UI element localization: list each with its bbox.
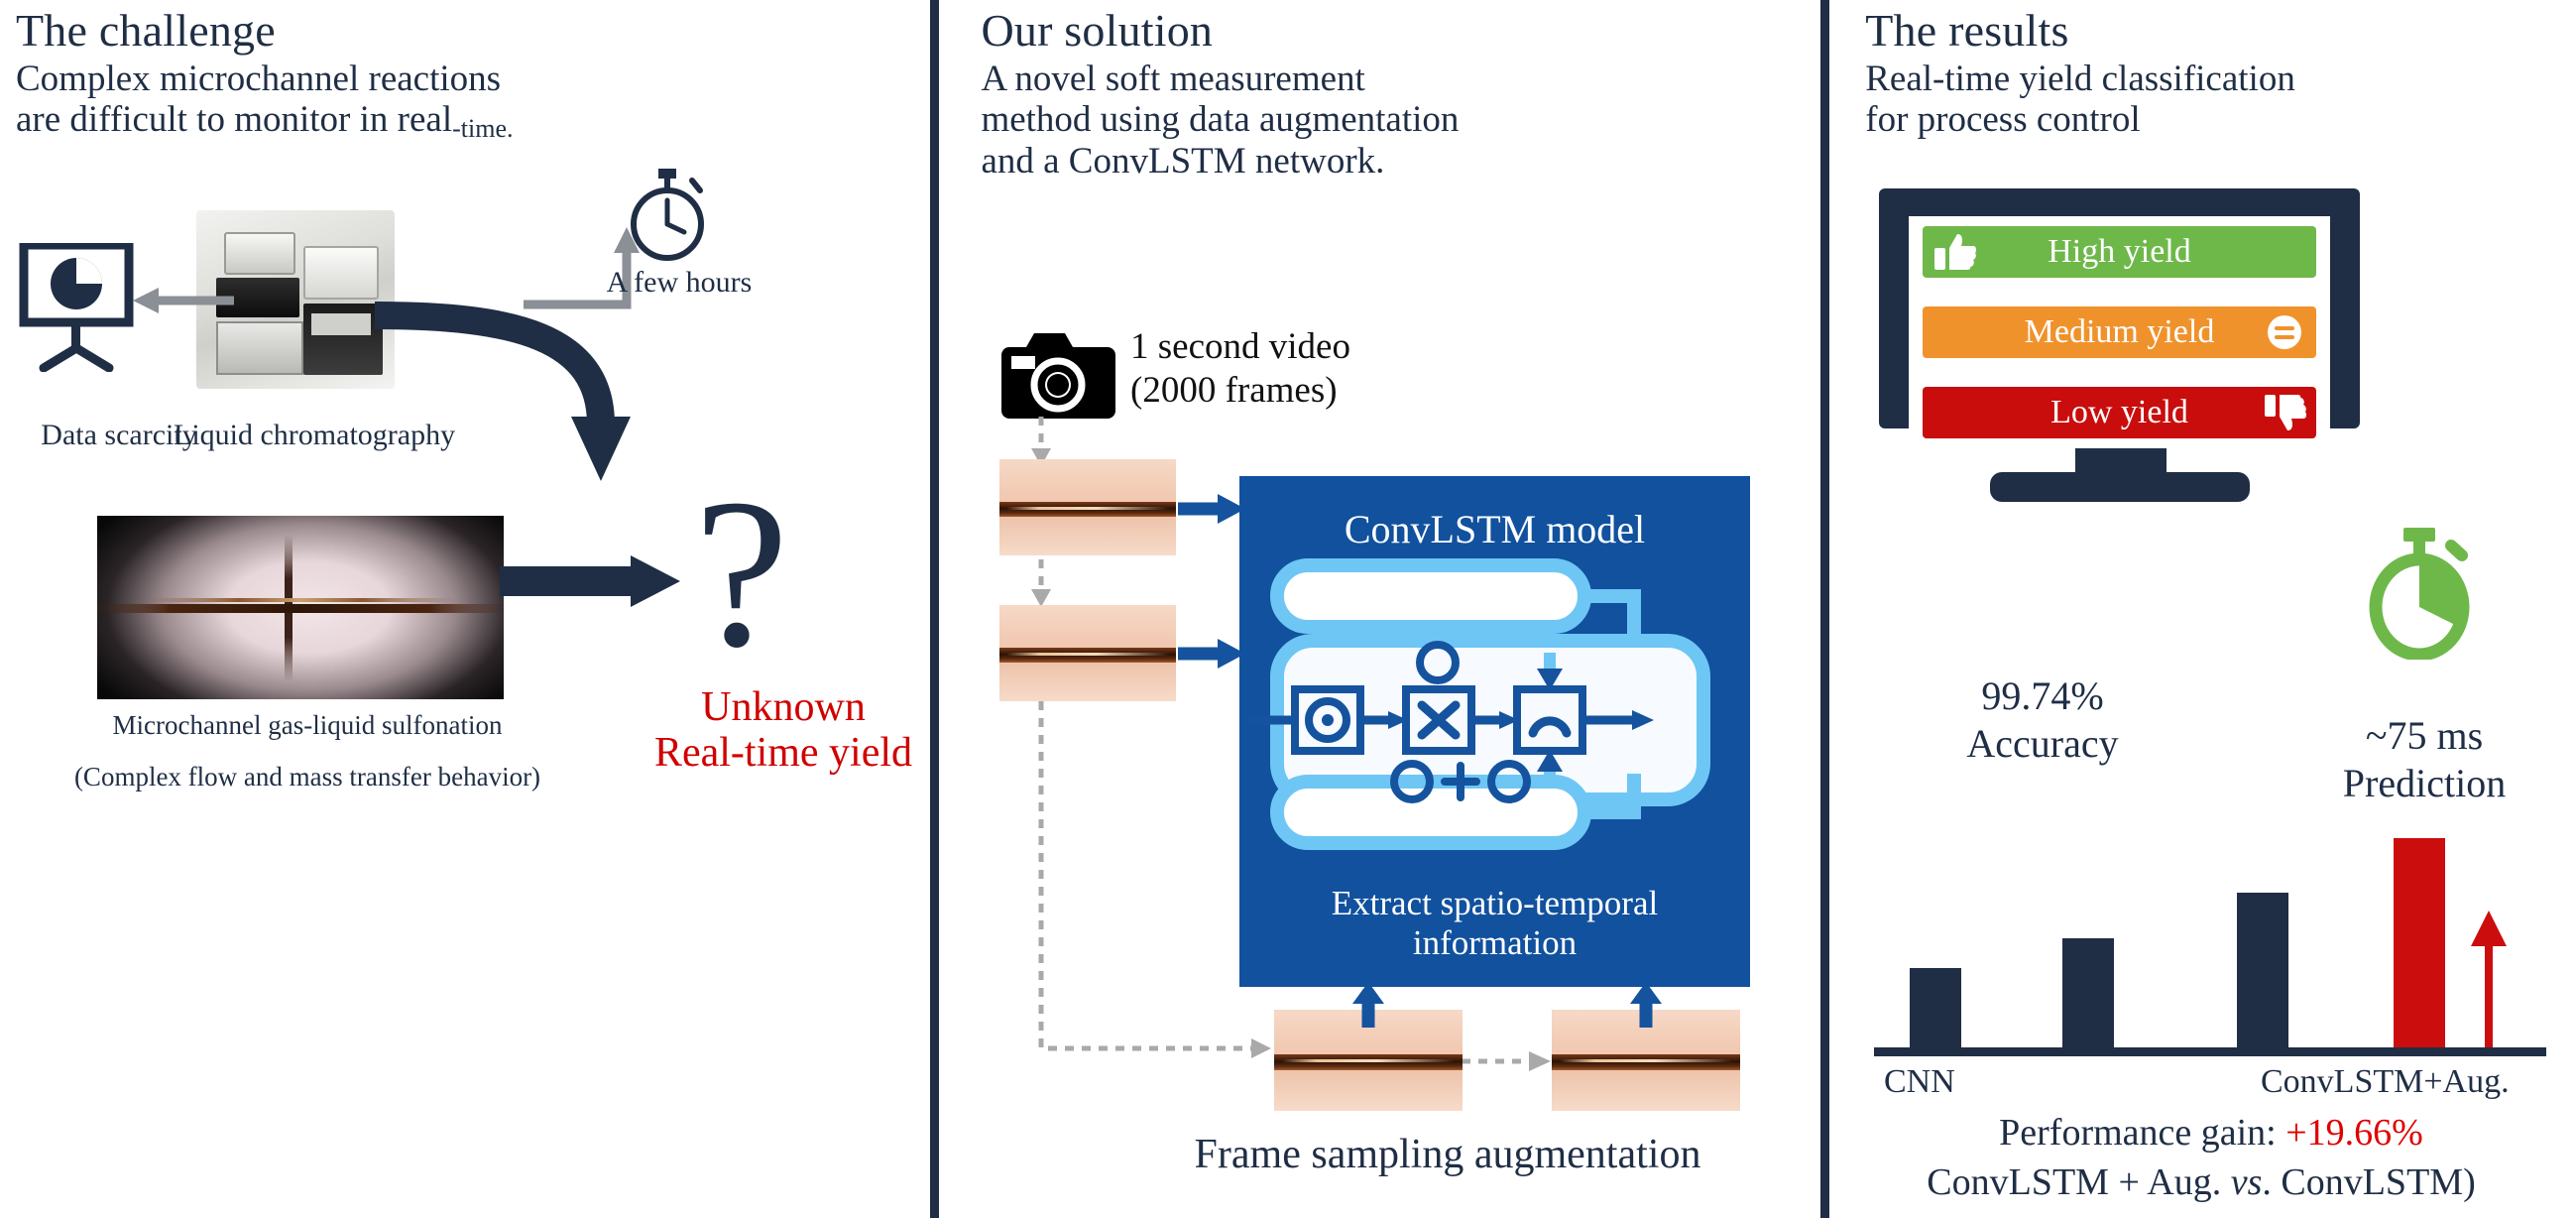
- bar-series-3: [2237, 893, 2288, 1047]
- prediction-label: Prediction: [2300, 760, 2548, 807]
- yield-label-high: High yield: [2048, 233, 2190, 271]
- label-a-few-hours: A few hours: [585, 266, 773, 301]
- yield-row-medium[interactable]: Medium yield: [1923, 306, 2316, 358]
- frame-up-arrow-1-icon: [1341, 982, 1396, 1030]
- chart-baseline: [1874, 1047, 2546, 1056]
- yield-label-medium: Medium yield: [2025, 313, 2215, 351]
- video-frame-thumbnail-1: [999, 459, 1176, 555]
- question-mark-symbol: ?: [694, 466, 788, 679]
- chart-label-cnn: CNN: [1884, 1063, 1955, 1101]
- performance-bar-chart: [1864, 838, 2558, 1056]
- camera-icon: [1001, 327, 1115, 419]
- convlstm-model-box: ConvLSTM model: [1239, 476, 1750, 987]
- graphical-abstract: The challenge Complex microchannel react…: [0, 0, 2576, 1218]
- yield-row-high[interactable]: High yield: [1923, 226, 2316, 278]
- right-sub-line-2: for process control: [1865, 99, 2295, 140]
- performance-note-head: ConvLSTM + Aug.: [1927, 1161, 2230, 1203]
- stopwatch-green-icon: [2360, 526, 2479, 660]
- yield-row-low[interactable]: Low yield: [1923, 387, 2316, 438]
- left-sub-line-2: are difficult to monitor in real-time.: [16, 99, 513, 143]
- performance-note-vs: vs: [2231, 1161, 2263, 1203]
- camera-caption-line-1: 1 second video: [1130, 325, 1350, 369]
- middle-sub-line-2: method using data augmentation: [981, 99, 1459, 140]
- video-frame-thumbnail-2: [999, 605, 1176, 701]
- label-microchannel-sulfonation: Microchannel gas-liquid sulfonation: [30, 710, 585, 741]
- accuracy-stat: 99.74% Accuracy: [1914, 672, 2171, 768]
- monitor-illustration: High yield Medium yield Low yield: [1879, 188, 2360, 526]
- left-heading: The challenge: [16, 8, 513, 54]
- middle-text-block: Our solution A novel soft measurement me…: [981, 8, 1459, 182]
- unknown-line-2: Real-time yield: [635, 730, 932, 776]
- curved-arrow-down-icon: [367, 298, 684, 496]
- thumbs-up-icon: [1932, 232, 1976, 272]
- middle-subtitle: A novel soft measurement method using da…: [981, 59, 1459, 182]
- middle-sub-line-3: and a ConvLSTM network.: [981, 141, 1459, 182]
- convlstm-caption-line-2: information: [1239, 923, 1750, 963]
- right-text-block: The results Real-time yield classificati…: [1865, 8, 2295, 141]
- convlstm-model-caption: Extract spatio-temporal information: [1239, 884, 1750, 964]
- camera-caption: 1 second video (2000 frames): [1130, 325, 1350, 412]
- right-heading: The results: [1865, 8, 2295, 54]
- monitor-screen: High yield Medium yield Low yield: [1909, 216, 2330, 448]
- performance-gain-line: Performance gain: +19.66%: [1864, 1111, 2558, 1155]
- frame-to-model-arrow-2-icon: [1176, 629, 1249, 678]
- bar-convlstm-aug: [2394, 838, 2445, 1047]
- prediction-value: ~75 ms: [2300, 712, 2548, 760]
- dashed-arrow-between-frames-icon: [1460, 1039, 1559, 1083]
- left-sub-line-2-tail: -time.: [452, 114, 513, 143]
- convlstm-caption-line-1: Extract spatio-temporal: [1239, 884, 1750, 923]
- panel-divider-2: [1820, 0, 1829, 1218]
- right-sub-line-1: Real-time yield classification: [1865, 59, 2295, 99]
- stopwatch-clock-icon: [623, 167, 712, 266]
- lstm-cell-diagram: [1239, 546, 1750, 873]
- left-sub-line-1: Complex microchannel reactions: [16, 59, 513, 99]
- frame-to-model-arrow-1-icon: [1176, 484, 1249, 534]
- left-subtitle: Complex microchannel reactions are diffi…: [16, 59, 513, 144]
- arrow-to-chart-icon: [129, 283, 238, 322]
- accuracy-value: 99.74%: [1914, 672, 2171, 720]
- microchannel-microscopy-photo: [97, 516, 504, 699]
- yield-label-low: Low yield: [2050, 394, 2188, 431]
- left-sub-line-2-main: are difficult to monitor in real: [16, 99, 452, 140]
- camera-caption-line-2: (2000 frames): [1130, 369, 1350, 413]
- label-microchannel-note: (Complex flow and mass transfer behavior…: [10, 762, 605, 792]
- unknown-realtime-yield-label: Unknown Real-time yield: [635, 684, 932, 776]
- arrow-to-question-icon: [496, 536, 694, 625]
- panel-the-challenge: The challenge Complex microchannel react…: [0, 0, 930, 1218]
- performance-gain-prefix: Performance gain:: [1999, 1112, 2285, 1154]
- chart-label-convlstm-aug: ConvLSTM+Aug.: [2261, 1063, 2510, 1101]
- bar-series-2: [2062, 938, 2114, 1047]
- middle-sub-line-1: A novel soft measurement: [981, 59, 1459, 99]
- performance-gain-value: +19.66%: [2285, 1112, 2423, 1154]
- thumbs-down-icon: [2263, 393, 2306, 432]
- bar-cnn: [1910, 968, 1961, 1047]
- frame-sampling-caption: Frame sampling augmentation: [1051, 1131, 1844, 1178]
- gain-up-arrow-icon: [2469, 909, 2509, 1047]
- accuracy-label: Accuracy: [1914, 720, 2171, 768]
- performance-note-tail: . ConvLSTM): [2262, 1161, 2475, 1203]
- right-subtitle: Real-time yield classification for proce…: [1865, 59, 2295, 141]
- frame-up-arrow-2-icon: [1618, 982, 1674, 1030]
- unknown-line-1: Unknown: [635, 684, 932, 730]
- panel-divider-1: [930, 0, 939, 1218]
- middle-heading: Our solution: [981, 8, 1459, 54]
- left-text-block: The challenge Complex microchannel react…: [16, 8, 513, 144]
- performance-note-line: ConvLSTM + Aug. vs. ConvLSTM): [1834, 1160, 2568, 1204]
- equals-icon: [2263, 312, 2306, 352]
- prediction-stat: ~75 ms Prediction: [2300, 712, 2548, 807]
